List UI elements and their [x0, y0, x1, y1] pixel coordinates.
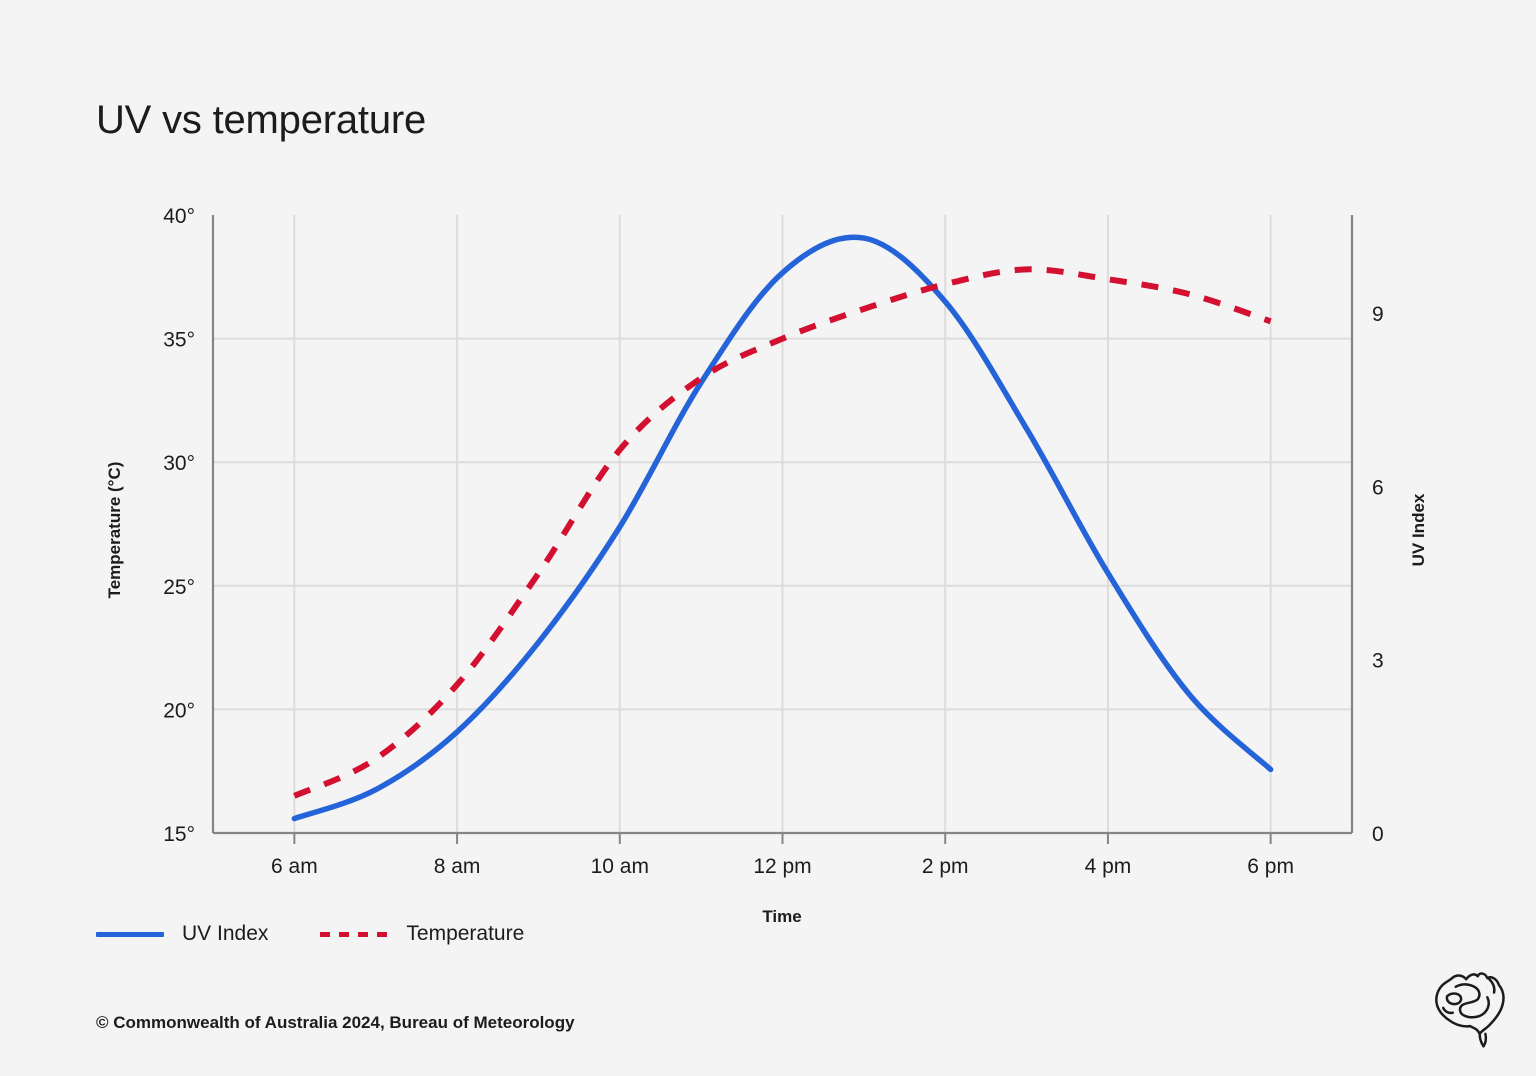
grid-lines — [213, 215, 1352, 833]
x-axis-tick-label: 6 pm — [1247, 855, 1294, 878]
x-axis-tick-label: 12 pm — [753, 855, 811, 878]
x-axis-tick-label: 10 am — [591, 855, 649, 878]
y-axis-tick-label: 25° — [163, 576, 195, 599]
y2-axis-tick-labels: 0369 — [1372, 303, 1384, 846]
chart-figure: UV vs temperature 15°20°25°30°35°40° 036… — [0, 0, 1536, 1076]
copyright-text: © Commonwealth of Australia 2024, Bureau… — [96, 1013, 575, 1033]
y2-axis-tick-label: 9 — [1372, 303, 1384, 326]
x-axis-tick-label: 2 pm — [922, 855, 969, 878]
legend-swatch-dashed-line-icon — [320, 932, 388, 937]
x-axis-ticks — [294, 833, 1270, 844]
legend-label-temperature: Temperature — [406, 922, 524, 946]
y-axis-tick-labels: 15°20°25°30°35°40° — [163, 205, 195, 846]
y2-axis-tick-label: 0 — [1372, 823, 1384, 846]
x-axis-tick-label: 4 pm — [1085, 855, 1132, 878]
y-axis-title: Temperature (°C) — [105, 462, 124, 599]
y2-axis-tick-label: 6 — [1372, 476, 1384, 499]
y-axis-tick-label: 30° — [163, 452, 195, 475]
x-axis-tick-labels: 6 am8 am10 am12 pm2 pm4 pm6 pm — [271, 855, 1294, 878]
y-axis-tick-label: 15° — [163, 823, 195, 846]
legend-item-uv-index[interactable]: UV Index — [96, 922, 268, 946]
legend-label-uv-index: UV Index — [182, 922, 268, 946]
x-axis-tick-label: 8 am — [434, 855, 481, 878]
bureau-of-meteorology-logo-icon — [1424, 958, 1520, 1054]
legend-swatch-solid-line-icon — [96, 932, 164, 937]
chart-legend: UV Index Temperature — [96, 922, 524, 946]
y-axis-tick-label: 35° — [163, 329, 195, 352]
y-axis-tick-label: 40° — [163, 205, 195, 228]
x-axis-title: Time — [762, 907, 801, 926]
legend-item-temperature[interactable]: Temperature — [320, 922, 524, 946]
y-axis-tick-label: 20° — [163, 699, 195, 722]
y2-axis-title: UV Index — [1409, 493, 1428, 566]
chart-plot-area: 15°20°25°30°35°40° 0369 6 am8 am10 am12 … — [0, 0, 1536, 1076]
x-axis-tick-label: 6 am — [271, 855, 318, 878]
y2-axis-tick-label: 3 — [1372, 650, 1384, 673]
